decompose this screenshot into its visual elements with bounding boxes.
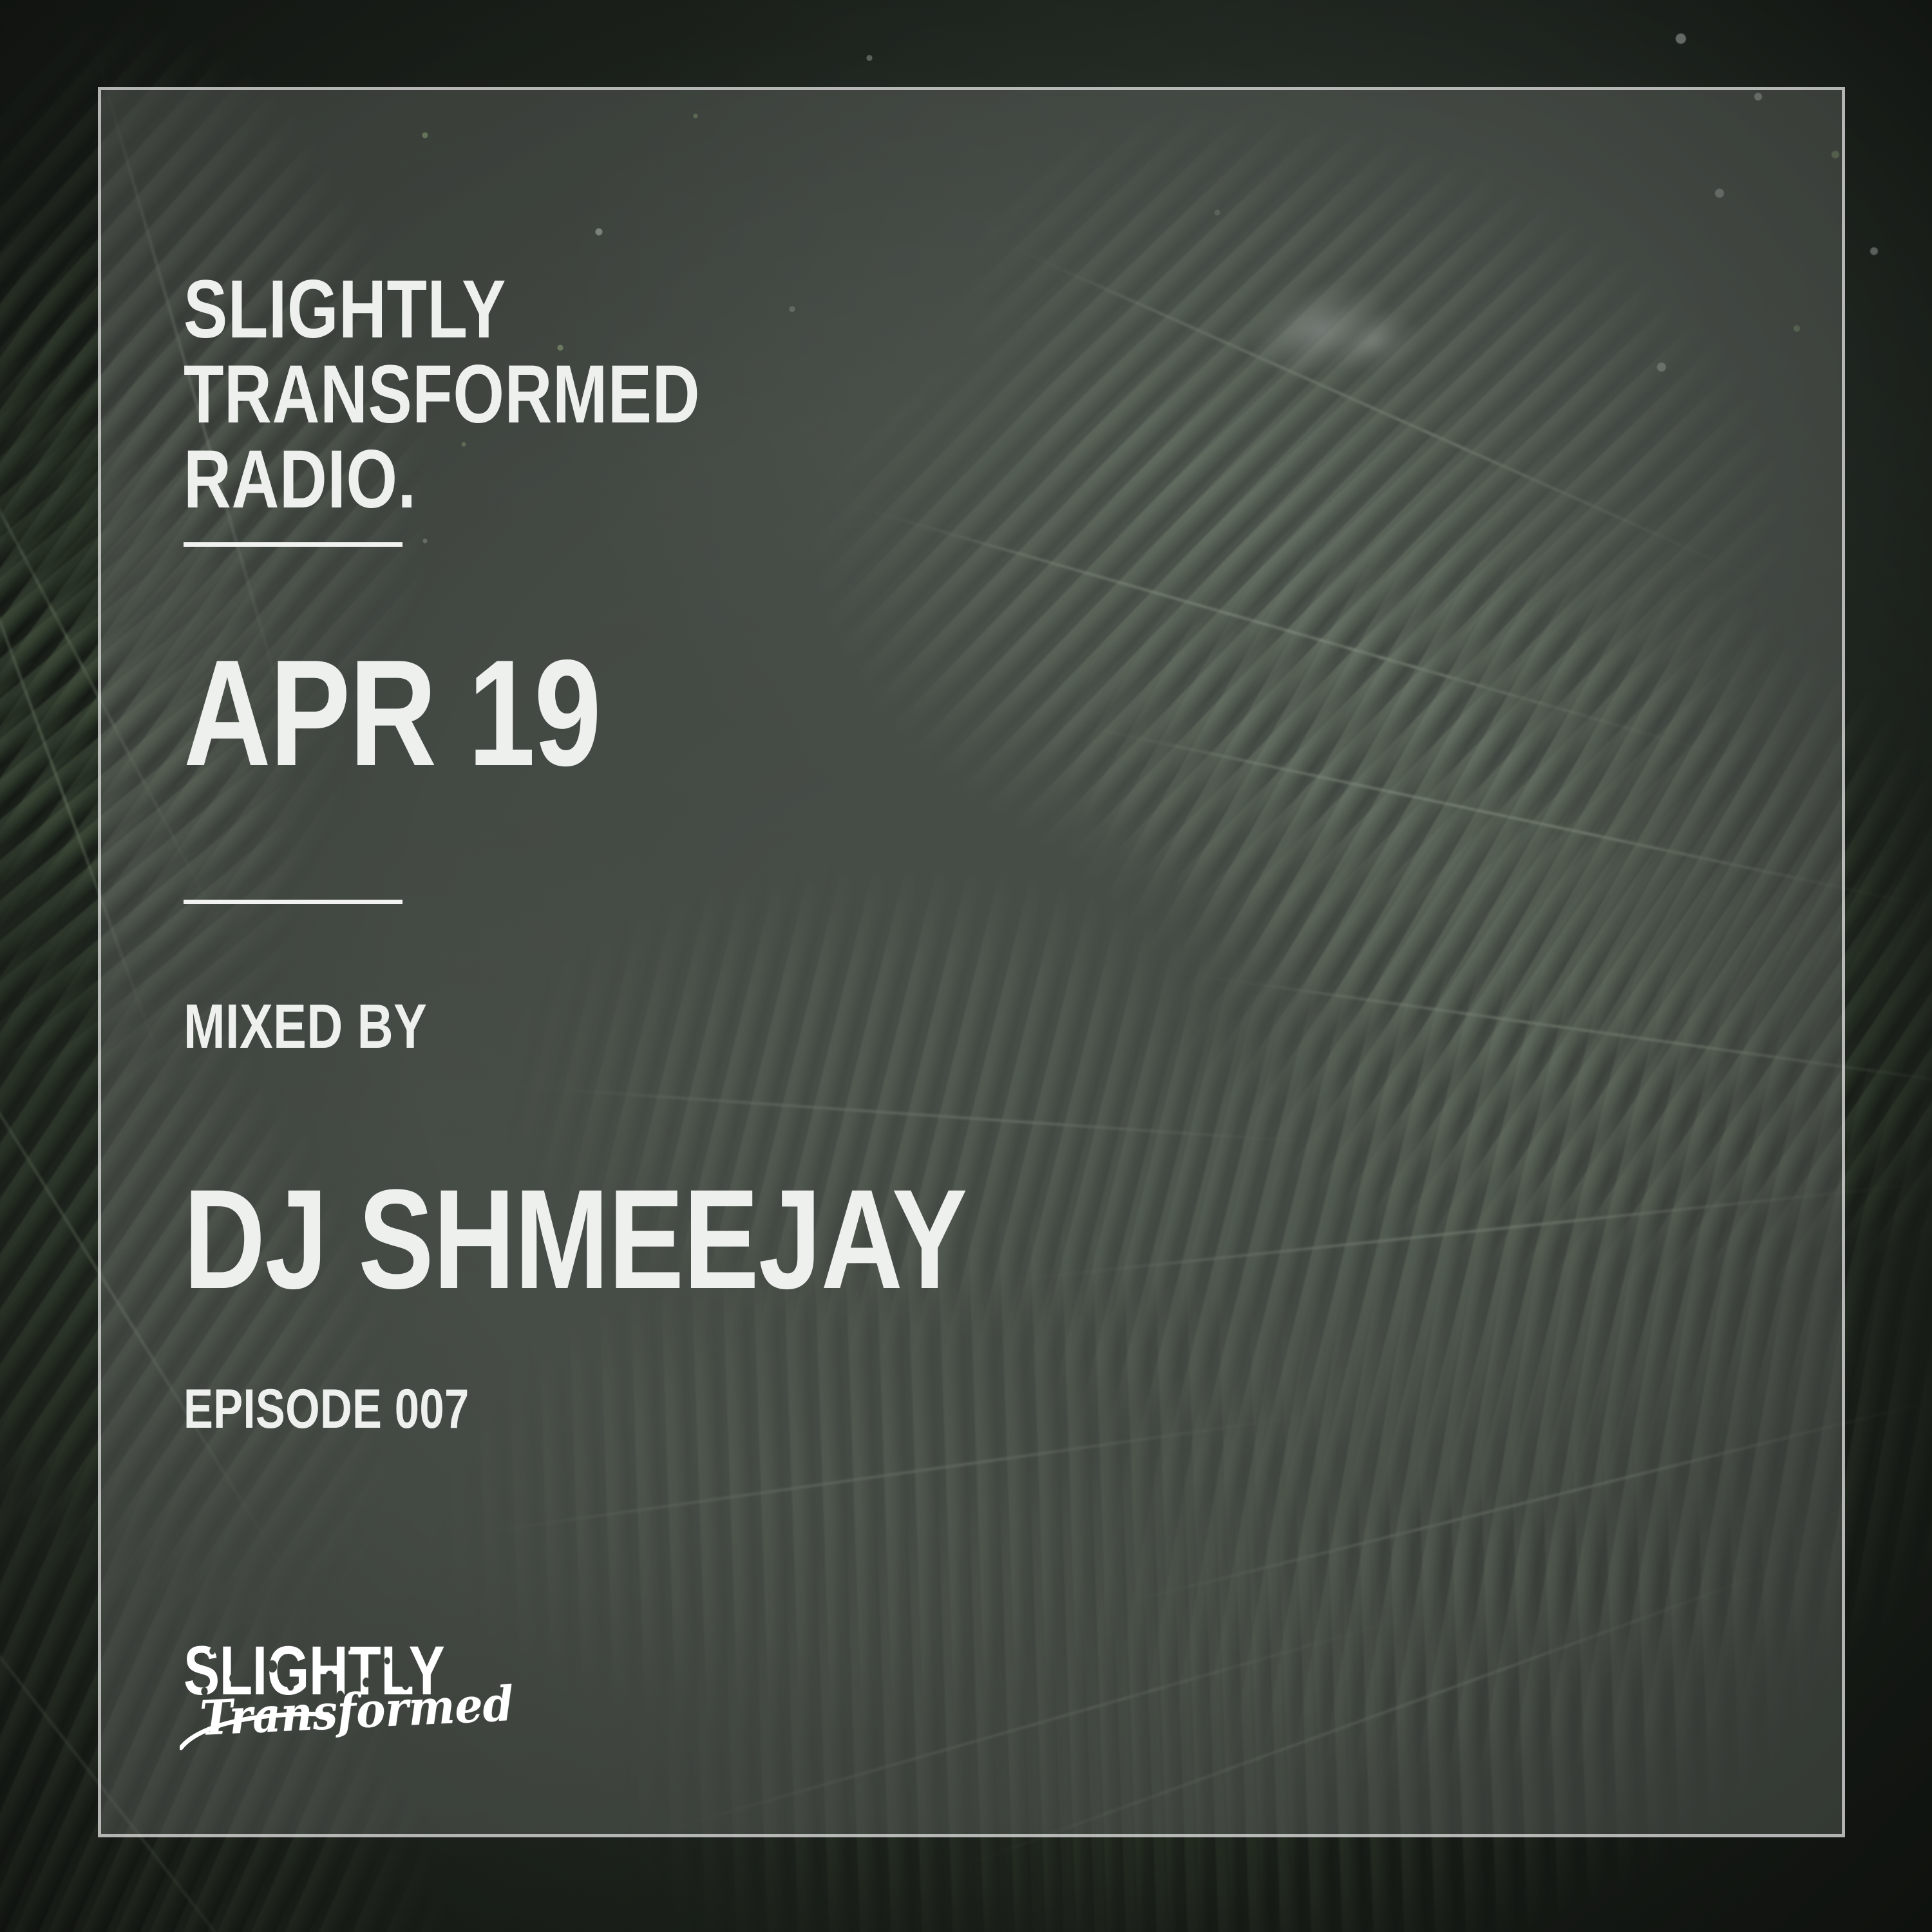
show-title: SLIGHTLY TRANSFORMED RADIO. [184, 267, 879, 522]
poster-canvas: SLIGHTLY TRANSFORMED RADIO. APR 19 MIXED… [0, 0, 1932, 1932]
mixed-by-label: MIXED BY [184, 997, 427, 1056]
episode-number: EPISODE 007 [184, 1383, 469, 1436]
episode-date: APR 19 [184, 641, 600, 784]
brand-logo-script: Transformed [199, 1680, 515, 1743]
artist-name: DJ SHMEEJAY [184, 1172, 967, 1307]
divider-rule-top [184, 542, 402, 547]
brand-logo: SLIGHTLY Transformed [184, 1636, 480, 1765]
divider-rule-bottom [184, 900, 402, 904]
